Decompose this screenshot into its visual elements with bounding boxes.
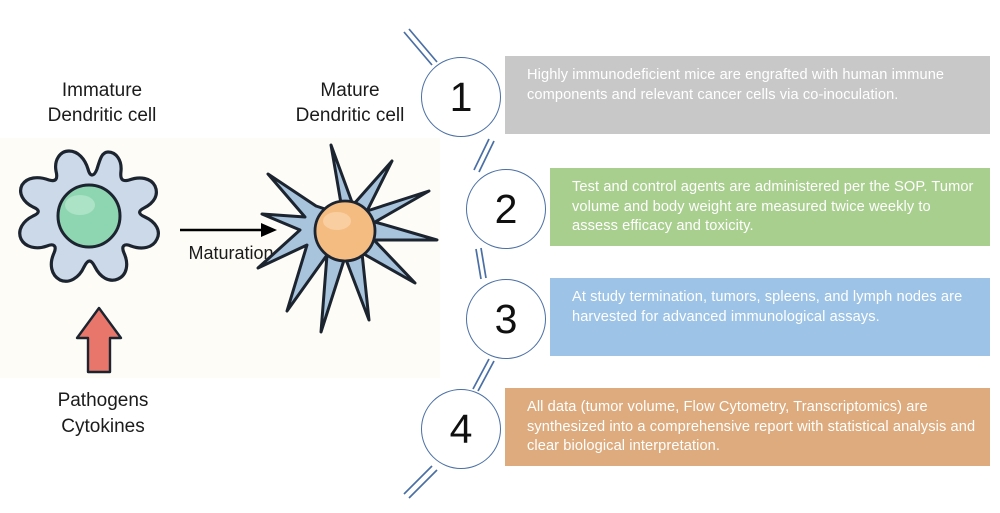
maturation-arrow-icon [180, 223, 277, 237]
step-number-1: 1 [450, 77, 473, 118]
step-text-3: At study termination, tumors, spleens, a… [572, 289, 962, 325]
step-circle-3[interactable]: 3 [466, 279, 546, 359]
step-number-2: 2 [495, 189, 518, 230]
step-panel-4: All data (tumor volume, Flow Cytometry, … [505, 388, 990, 466]
immature-dendritic-cell-icon [20, 151, 159, 281]
step-circle-2[interactable]: 2 [466, 169, 546, 249]
infographic-canvas: Immature Dendritic cell Mature Dendritic… [0, 0, 1000, 513]
step-number-3: 3 [495, 299, 518, 340]
mature-dendritic-cell-icon [258, 145, 437, 332]
step-circle-4[interactable]: 4 [421, 389, 501, 469]
step-circle-1[interactable]: 1 [421, 57, 501, 137]
step-text-1: Highly immunodeficient mice are engrafte… [527, 67, 944, 103]
step-text-2: Test and control agents are administered… [572, 179, 974, 234]
step-panel-1: Highly immunodeficient mice are engrafte… [505, 56, 990, 134]
step-text-4: All data (tumor volume, Flow Cytometry, … [527, 399, 975, 454]
step-panel-3: At study termination, tumors, spleens, a… [550, 278, 990, 356]
step-number-4: 4 [450, 409, 473, 450]
pathogens-cytokines-arrow-icon [77, 308, 121, 372]
step-panel-2: Test and control agents are administered… [550, 168, 990, 246]
